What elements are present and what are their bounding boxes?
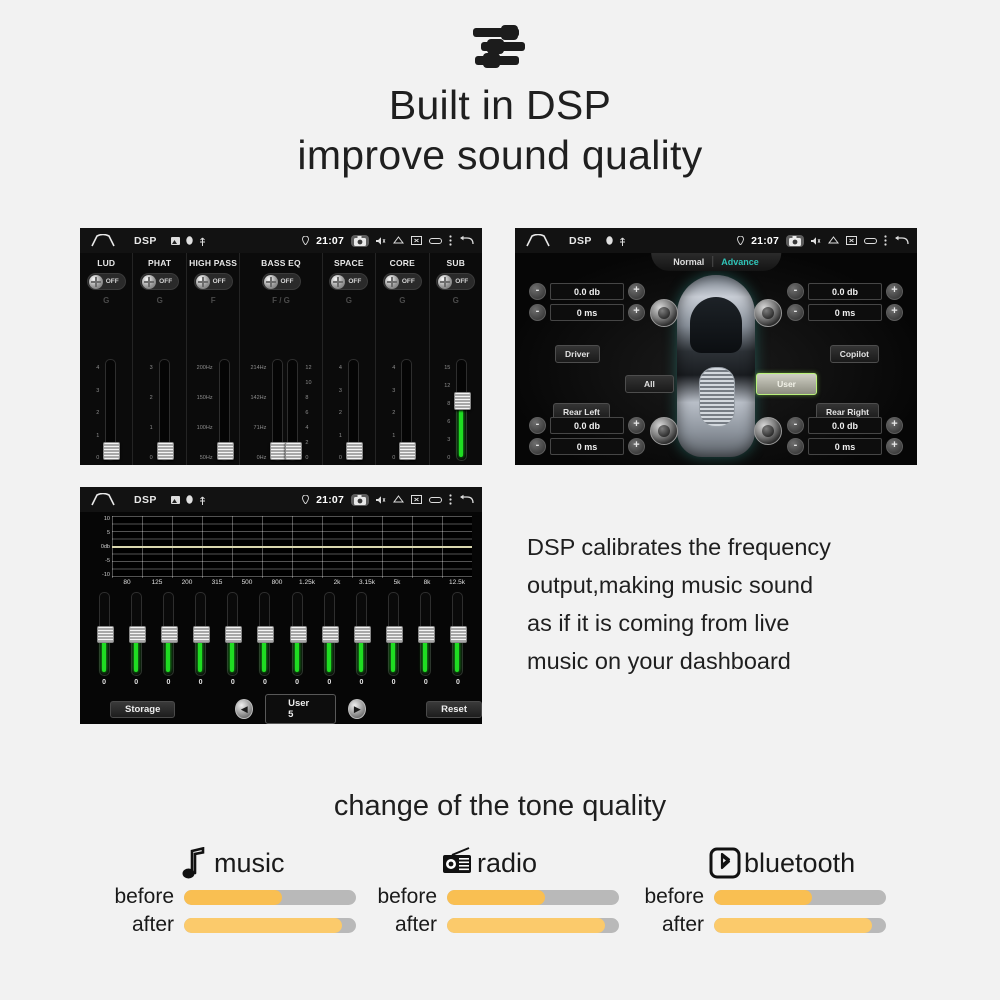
sub-toggle[interactable]: OFF	[436, 273, 475, 290]
band-value: 0	[295, 679, 299, 686]
position-button-all[interactable]: All	[625, 375, 674, 393]
slider-fill	[459, 404, 463, 457]
app-title: DSP	[134, 235, 157, 247]
delay-minus-button[interactable]: -	[787, 438, 804, 455]
progress-fill	[184, 918, 342, 933]
card-icon[interactable]	[429, 237, 442, 245]
band-value: 0	[231, 679, 235, 686]
location-pin-icon	[737, 236, 744, 245]
graph-plot-area	[112, 516, 472, 578]
overflow-menu-icon[interactable]	[449, 494, 452, 505]
progress-bar	[184, 890, 356, 905]
equalizer-graph: 10 5 0db -5 -10 80 125 200 315 500 800 1…	[88, 516, 472, 586]
tone-row-before: before	[630, 885, 886, 909]
rotary-knob-icon[interactable]	[331, 275, 345, 289]
progress-fill	[714, 918, 872, 933]
storage-button[interactable]: Storage	[110, 701, 175, 718]
clock-time: 21:07	[316, 494, 344, 506]
band-value: 0	[199, 679, 203, 686]
tone-row-before: before	[363, 885, 619, 909]
slider-track[interactable]	[452, 592, 463, 676]
toggle-state: OFF	[106, 278, 119, 285]
location-pin-icon	[302, 495, 309, 504]
description-text: DSP calibrates the frequency output,maki…	[527, 528, 927, 680]
eq-band-5k[interactable]: 0	[378, 592, 410, 686]
front-right-gain-value[interactable]: 0.0 db	[808, 283, 882, 300]
delay-plus-button[interactable]: +	[628, 438, 645, 455]
gain-plus-button[interactable]: +	[628, 417, 645, 434]
description-line-3: as if it is coming from live	[527, 604, 927, 642]
column-mode: G	[346, 296, 352, 305]
slider-fill	[166, 640, 170, 672]
slider-track[interactable]	[287, 359, 298, 461]
graph-y-axis: 10 5 0db -5 -10	[88, 516, 110, 578]
preset-name[interactable]: User 5	[265, 694, 336, 724]
row-tag: after	[630, 913, 704, 937]
slider-track[interactable]	[401, 359, 412, 461]
tone-group-label: music	[214, 848, 285, 879]
bass-eq-toggle[interactable]: OFF	[262, 273, 301, 290]
slider-thumb[interactable]	[97, 626, 114, 643]
slider-track[interactable]	[99, 592, 110, 676]
dsp-column-space[interactable]: SPACE OFF G 4 3 2 1 0	[323, 253, 376, 465]
eq-band-1-25k[interactable]: 0	[281, 592, 313, 686]
dsp-column-high-pass[interactable]: HIGH PASS OFF F 200Hz 150Hz 100Hz 50Hz	[187, 253, 240, 465]
speaker-front-left-icon[interactable]	[650, 299, 678, 327]
slider-track[interactable]	[456, 359, 467, 461]
toggle-state: OFF	[402, 278, 415, 285]
eject-icon[interactable]	[393, 495, 404, 504]
slider-track[interactable]	[348, 359, 359, 461]
home-icon[interactable]	[90, 234, 116, 247]
front-left-gain-value[interactable]: 0.0 db	[550, 283, 624, 300]
band-value: 0	[456, 679, 460, 686]
tone-group-radio: radio before after	[363, 845, 619, 937]
tone-group-label: bluetooth	[744, 848, 855, 879]
band-value: 0	[392, 679, 396, 686]
page-title: Built in DSP improve sound quality	[0, 80, 1000, 180]
column-mode: G	[453, 296, 459, 305]
dot-icon	[186, 495, 193, 504]
eject-icon[interactable]	[828, 236, 839, 245]
slider-thumb[interactable]	[129, 626, 146, 643]
toggle-state: OFF	[348, 278, 361, 285]
core-toggle[interactable]: OFF	[383, 273, 422, 290]
camera-icon[interactable]	[351, 235, 369, 247]
speaker-rear-left-icon[interactable]	[650, 417, 678, 445]
tab-advance[interactable]: Advance	[721, 257, 759, 267]
tab-divider	[712, 256, 713, 267]
delay-plus-button[interactable]: +	[628, 304, 645, 321]
panel-equalizer: DSP 21:07 10 5 0db -5 -10	[80, 487, 482, 724]
toggle-state: OFF	[213, 278, 226, 285]
column-title: CORE	[390, 258, 415, 268]
band-value: 0	[134, 679, 138, 686]
progress-fill	[714, 890, 812, 905]
rotary-knob-icon[interactable]	[385, 275, 399, 289]
slider-thumb[interactable]	[161, 626, 178, 643]
slider-thumb[interactable]	[346, 442, 363, 460]
radio-icon	[441, 846, 475, 880]
reset-button[interactable]: Reset	[426, 701, 482, 718]
usb-icon	[619, 236, 626, 246]
column-mode: G	[399, 296, 405, 305]
front-right-delay-value[interactable]: 0 ms	[808, 304, 882, 321]
slider-thumb[interactable]	[386, 626, 403, 643]
gain-plus-button[interactable]: +	[886, 283, 903, 300]
slider-thumb[interactable]	[157, 442, 174, 460]
bluetooth-icon	[708, 846, 742, 880]
page-title-line1: Built in DSP	[0, 80, 1000, 130]
rotary-knob-icon[interactable]	[438, 275, 452, 289]
tone-row-before: before	[100, 885, 356, 909]
control-rear-right: - 0.0 db + - 0 ms +	[787, 417, 903, 455]
image-icon	[171, 237, 180, 245]
overflow-menu-icon[interactable]	[884, 235, 887, 246]
eq-response-curve	[112, 546, 472, 548]
slider-thumb[interactable]	[285, 442, 302, 460]
gain-minus-button[interactable]: -	[529, 417, 546, 434]
equalizer-sliders-icon	[469, 14, 531, 76]
row-tag: after	[100, 913, 174, 937]
rear-left-delay-value[interactable]: 0 ms	[550, 438, 624, 455]
eq-band-8k[interactable]: 0	[410, 592, 442, 686]
overflow-menu-icon[interactable]	[449, 235, 452, 246]
usb-icon	[199, 236, 206, 246]
tone-group-bluetooth: bluetooth before after	[630, 845, 886, 937]
band-value: 0	[360, 679, 364, 686]
delay-plus-button[interactable]: +	[886, 304, 903, 321]
gain-minus-button[interactable]: -	[787, 283, 804, 300]
slider-thumb[interactable]	[290, 626, 307, 643]
position-button-driver[interactable]: Driver	[555, 345, 600, 363]
camera-icon[interactable]	[351, 494, 369, 506]
slider-thumb[interactable]	[354, 626, 371, 643]
tone-row-after: after	[363, 913, 619, 937]
card-icon[interactable]	[429, 496, 442, 504]
eq-band-800[interactable]: 0	[249, 592, 281, 686]
high-pass-toggle[interactable]: OFF	[194, 273, 233, 290]
column-title: SPACE	[334, 258, 364, 268]
gain-minus-button[interactable]: -	[787, 417, 804, 434]
slider-track[interactable]	[163, 592, 174, 676]
slider-track[interactable]	[195, 592, 206, 676]
eject-icon[interactable]	[393, 236, 404, 245]
position-button-copilot[interactable]: Copilot	[830, 345, 879, 363]
rotary-knob-icon[interactable]	[264, 275, 278, 289]
panel-dsp-effects: DSP 21:07 LUD OFF G 4 3	[80, 228, 482, 465]
scale-labels: 214Hz 142Hz 71Hz 0Hz	[250, 365, 268, 461]
tab-normal[interactable]: Normal	[673, 257, 704, 267]
description-line-4: music on your dashboard	[527, 642, 927, 680]
tone-row-after: after	[100, 913, 356, 937]
equalizer-footer: Storage ◀ User 5 ▶ Reset	[80, 698, 482, 720]
home-icon[interactable]	[90, 493, 116, 506]
scale-labels-right: 12 10 8 6 4 2 0	[302, 365, 311, 461]
column-mode: F	[211, 296, 216, 305]
column-title: PHAT	[148, 258, 171, 268]
eq-band-3-15k[interactable]: 0	[345, 592, 377, 686]
slider-fill	[327, 640, 331, 672]
control-front-left: - 0.0 db + - 0 ms +	[529, 283, 645, 321]
clock-time: 21:07	[316, 235, 344, 247]
toggle-state: OFF	[455, 278, 468, 285]
slider-track[interactable]	[105, 359, 116, 461]
slider-thumb[interactable]	[193, 626, 210, 643]
slider-thumb[interactable]	[322, 626, 339, 643]
app-title: DSP	[134, 494, 157, 506]
dot-icon	[606, 236, 613, 245]
slider-thumb[interactable]	[257, 626, 274, 643]
rear-left-gain-value[interactable]: 0.0 db	[550, 417, 624, 434]
slider-track[interactable]	[159, 359, 170, 461]
slider-thumb[interactable]	[454, 392, 471, 410]
panel-balance: DSP 21:07 Normal Advance - 0	[515, 228, 917, 465]
back-arrow-icon[interactable]	[459, 235, 474, 246]
slider-fill	[423, 640, 427, 672]
rotary-knob-icon[interactable]	[196, 275, 210, 289]
slider-track[interactable]	[219, 359, 230, 461]
dsp-column-phat[interactable]: PHAT OFF G 3 2 1 0	[133, 253, 186, 465]
back-arrow-icon[interactable]	[459, 494, 474, 505]
prev-arrow-icon[interactable]: ◀	[235, 699, 253, 719]
band-value: 0	[166, 679, 170, 686]
slider-fill	[295, 640, 299, 672]
statusbar: DSP 21:07	[80, 228, 482, 253]
dsp-column-lud[interactable]: LUD OFF G 4 3 2 1 0	[80, 253, 133, 465]
row-tag: after	[363, 913, 437, 937]
screenshot-icon[interactable]	[411, 236, 422, 245]
slider-thumb[interactable]	[418, 626, 435, 643]
screenshot-icon[interactable]	[846, 236, 857, 245]
slider-track[interactable]	[420, 592, 431, 676]
row-tag: before	[363, 885, 437, 909]
control-rear-left: - 0.0 db + - 0 ms +	[529, 417, 645, 455]
gain-minus-button[interactable]: -	[529, 283, 546, 300]
dsp-column-bass-eq[interactable]: BASS EQ OFF F / G 214Hz 142Hz 71Hz 0Hz 1…	[240, 253, 322, 465]
slider-track[interactable]	[292, 592, 303, 676]
next-arrow-icon[interactable]: ▶	[348, 699, 366, 719]
tone-section-title: change of the tone quality	[0, 790, 1000, 823]
row-tag: before	[630, 885, 704, 909]
control-front-right: - 0.0 db + - 0 ms +	[787, 283, 903, 321]
progress-bar	[184, 918, 356, 933]
scale-labels: 200Hz 150Hz 100Hz 50Hz	[197, 365, 215, 461]
scale-labels: 15 12 8 6 3 0	[444, 365, 452, 461]
equalizer-band-sliders: 0 0 0 0 0 0 0 0 0 0 0 0	[88, 592, 474, 686]
mute-speaker-icon[interactable]	[376, 495, 386, 505]
car-illustration	[677, 275, 755, 457]
eq-band-500[interactable]: 0	[217, 592, 249, 686]
speaker-rear-right-icon[interactable]	[754, 417, 782, 445]
rotary-knob-icon[interactable]	[142, 275, 156, 289]
toggle-state: OFF	[159, 278, 172, 285]
scale-labels: 3 2 1 0	[150, 365, 155, 461]
column-mode: G	[157, 296, 163, 305]
scale-labels: 4 3 2 1 0	[392, 365, 397, 461]
progress-fill	[447, 918, 605, 933]
mute-speaker-icon[interactable]	[376, 236, 386, 246]
eq-band-200[interactable]: 0	[152, 592, 184, 686]
scale-labels: 4 3 2 1 0	[339, 365, 344, 461]
progress-fill	[184, 890, 282, 905]
statusbar: DSP 21:07	[80, 487, 482, 512]
band-value: 0	[424, 679, 428, 686]
delay-minus-button[interactable]: -	[787, 304, 804, 321]
eq-band-12-5k[interactable]: 0	[442, 592, 474, 686]
progress-fill	[447, 890, 545, 905]
slider-fill	[262, 640, 266, 672]
location-pin-icon	[302, 236, 309, 245]
tone-group-label: radio	[477, 848, 537, 879]
clock-time: 21:07	[751, 235, 779, 247]
graph-x-axis: 80 125 200 315 500 800 1.25k 2k 3.15k 5k…	[112, 579, 472, 586]
phat-toggle[interactable]: OFF	[140, 273, 179, 290]
back-arrow-icon[interactable]	[894, 235, 909, 246]
slider-thumb[interactable]	[217, 442, 234, 460]
eq-band-80[interactable]: 0	[88, 592, 120, 686]
lud-toggle[interactable]: OFF	[87, 273, 126, 290]
slider-fill	[230, 640, 234, 672]
toggle-state: OFF	[281, 278, 294, 285]
eq-band-2k[interactable]: 0	[313, 592, 345, 686]
statusbar: DSP 21:07	[515, 228, 917, 253]
column-mode: G	[103, 296, 109, 305]
music-note-icon	[178, 846, 212, 880]
page-title-line2: improve sound quality	[0, 130, 1000, 180]
scale-labels: 4 3 2 1 0	[96, 365, 101, 461]
slider-track[interactable]	[272, 359, 283, 461]
rear-right-gain-value[interactable]: 0.0 db	[808, 417, 882, 434]
dsp-column-sub[interactable]: SUB OFF G 15 12 8 6 3 0	[430, 253, 482, 465]
description-line-1: DSP calibrates the frequency	[527, 528, 927, 566]
progress-bar	[447, 918, 619, 933]
slider-track[interactable]	[259, 592, 270, 676]
band-value: 0	[263, 679, 267, 686]
space-toggle[interactable]: OFF	[329, 273, 368, 290]
band-value: 0	[102, 679, 106, 686]
slider-fill	[359, 640, 363, 672]
delay-minus-button[interactable]: -	[529, 438, 546, 455]
description-line-2: output,making music sound	[527, 566, 927, 604]
row-tag: before	[100, 885, 174, 909]
mute-speaker-icon[interactable]	[811, 236, 821, 246]
rear-right-delay-value[interactable]: 0 ms	[808, 438, 882, 455]
progress-bar	[447, 890, 619, 905]
slider-track[interactable]	[324, 592, 335, 676]
speaker-front-right-icon[interactable]	[754, 299, 782, 327]
column-title: SUB	[447, 258, 466, 268]
progress-bar	[714, 890, 886, 905]
column-mode: F / G	[272, 296, 290, 305]
tone-group-music: music before after	[100, 845, 356, 937]
page-header: Built in DSP improve sound quality	[0, 0, 1000, 180]
app-title: DSP	[569, 235, 592, 247]
front-left-delay-value[interactable]: 0 ms	[550, 304, 624, 321]
slider-fill	[455, 640, 459, 672]
delay-minus-button[interactable]: -	[529, 304, 546, 321]
rotary-knob-icon[interactable]	[89, 275, 103, 289]
eq-band-315[interactable]: 0	[185, 592, 217, 686]
slider-thumb[interactable]	[103, 442, 120, 460]
slider-track[interactable]	[356, 592, 367, 676]
dsp-column-core[interactable]: CORE OFF G 4 3 2 1 0	[376, 253, 429, 465]
slider-track[interactable]	[131, 592, 142, 676]
position-button-user[interactable]: User	[756, 373, 817, 395]
gain-plus-button[interactable]: +	[628, 283, 645, 300]
slider-track[interactable]	[388, 592, 399, 676]
slider-fill	[391, 640, 395, 672]
tone-row-after: after	[630, 913, 886, 937]
camera-icon[interactable]	[786, 235, 804, 247]
slider-thumb[interactable]	[450, 626, 467, 643]
progress-bar	[714, 918, 886, 933]
image-icon	[171, 496, 180, 504]
gain-plus-button[interactable]: +	[886, 417, 903, 434]
column-title: LUD	[97, 258, 115, 268]
slider-track[interactable]	[227, 592, 238, 676]
home-icon[interactable]	[525, 234, 551, 247]
usb-icon	[199, 495, 206, 505]
slider-fill	[102, 640, 106, 672]
slider-thumb[interactable]	[399, 442, 416, 460]
dot-icon	[186, 236, 193, 245]
column-title: HIGH PASS	[189, 258, 237, 268]
dsp-columns: LUD OFF G 4 3 2 1 0 PHAT OFF G 3	[80, 253, 482, 465]
delay-plus-button[interactable]: +	[886, 438, 903, 455]
slider-fill	[198, 640, 202, 672]
eq-band-125[interactable]: 0	[120, 592, 152, 686]
card-icon[interactable]	[864, 237, 877, 245]
mode-tabs: Normal Advance	[651, 253, 781, 271]
screenshot-icon[interactable]	[411, 495, 422, 504]
band-value: 0	[327, 679, 331, 686]
column-title: BASS EQ	[261, 258, 301, 268]
slider-fill	[134, 640, 138, 672]
slider-thumb[interactable]	[225, 626, 242, 643]
